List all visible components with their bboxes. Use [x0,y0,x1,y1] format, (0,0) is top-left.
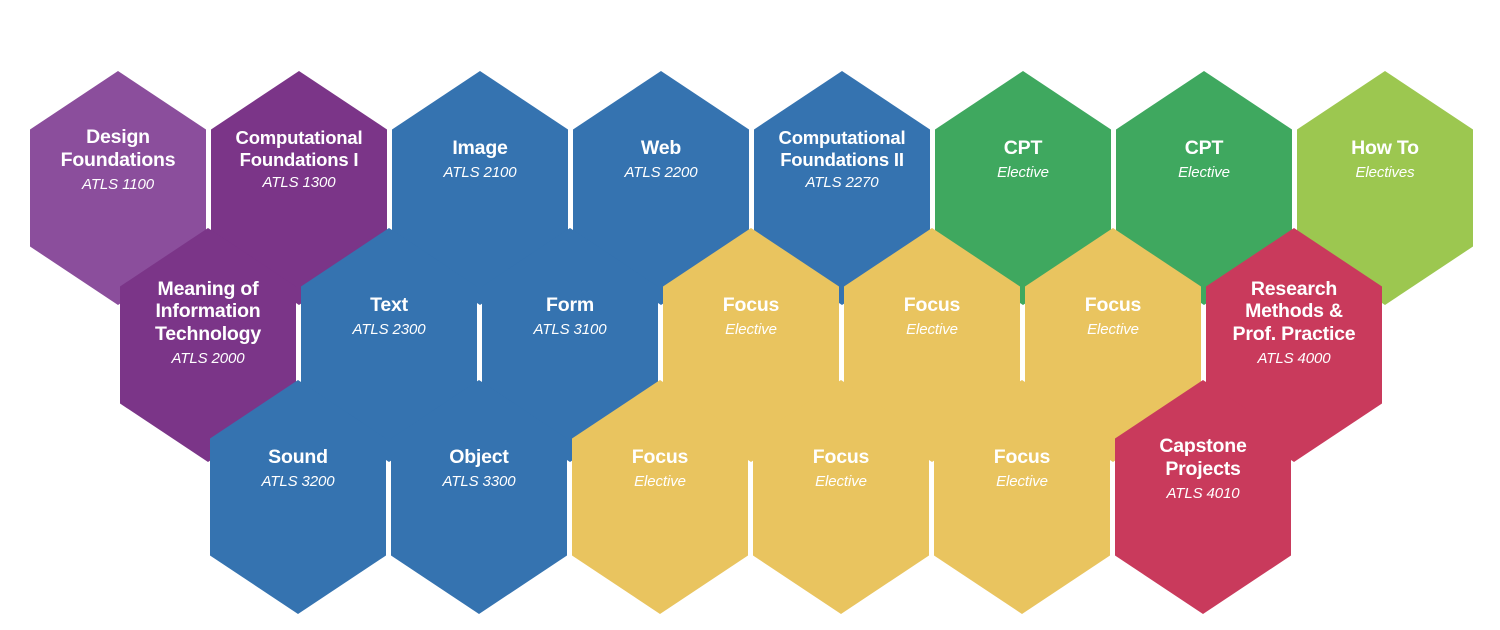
course-code: ATLS 3200 [224,472,372,492]
hexagon-content: Design FoundationsATLS 1100 [44,126,192,194]
course-code: Elective [1039,320,1187,340]
course-title: CPT [949,137,1097,160]
hexagon-content: How ToElectives [1311,137,1459,182]
hexagon-content: CPTElective [1130,137,1278,182]
course-code: ATLS 4010 [1129,484,1277,504]
course-title: Focus [586,446,734,469]
course-title: Research Methods & Prof. Practice [1220,278,1368,346]
course-title: Image [406,137,554,160]
course-code: ATLS 2270 [768,173,916,193]
course-title: Design Foundations [44,126,192,172]
hexagon-content: ImageATLS 2100 [406,137,554,182]
course-code: Elective [858,320,1006,340]
hexagon-content: Capstone ProjectsATLS 4010 [1129,435,1277,503]
hexagon-content: Computational Foundations IATLS 1300 [225,127,373,193]
course-title: Capstone Projects [1129,435,1277,481]
course-code: ATLS 2300 [315,320,463,340]
hexagon-course-map: Design FoundationsATLS 1100Computational… [0,0,1500,630]
course-title: Object [405,446,553,469]
course-title: CPT [1130,137,1278,160]
hexagon-content: Research Methods & Prof. PracticeATLS 40… [1220,278,1368,369]
hexagon-content: FocusElective [948,446,1096,491]
hexagon-content: FocusElective [677,294,825,339]
course-code: Elective [586,472,734,492]
course-code: Elective [948,472,1096,492]
course-title: Focus [677,294,825,317]
hexagon-content: CPTElective [949,137,1097,182]
hexagon-content: ObjectATLS 3300 [405,446,553,491]
course-code: ATLS 2200 [587,163,735,183]
hexagon-content: FocusElective [858,294,1006,339]
hexagon-content: FocusElective [767,446,915,491]
course-title: Computational Foundations I [225,127,373,170]
hexagon-content: WebATLS 2200 [587,137,735,182]
course-title: Web [587,137,735,160]
course-title: How To [1311,137,1459,160]
course-code: ATLS 4000 [1220,349,1368,369]
hexagon-content: SoundATLS 3200 [224,446,372,491]
course-code: Elective [1130,163,1278,183]
course-title: Meaning of Information Technology [134,278,282,346]
hexagon-content: FocusElective [1039,294,1187,339]
course-title: Focus [948,446,1096,469]
course-title: Focus [767,446,915,469]
course-code: Elective [767,472,915,492]
course-title: Text [315,294,463,317]
course-code: ATLS 2000 [134,349,282,369]
course-code: ATLS 1300 [225,173,373,193]
hexagon-content: TextATLS 2300 [315,294,463,339]
course-title: Focus [1039,294,1187,317]
course-code: ATLS 3300 [405,472,553,492]
course-title: Form [496,294,644,317]
course-title: Sound [224,446,372,469]
course-code: ATLS 1100 [44,175,192,195]
course-code: Elective [677,320,825,340]
course-code: Elective [949,163,1097,183]
hexagon-content: Computational Foundations IIATLS 2270 [768,127,916,193]
hexagon-content: FormATLS 3100 [496,294,644,339]
hexagon-content: Meaning of Information TechnologyATLS 20… [134,278,282,369]
hexagon-content: FocusElective [586,446,734,491]
course-code: Electives [1311,163,1459,183]
course-code: ATLS 2100 [406,163,554,183]
course-code: ATLS 3100 [496,320,644,340]
course-title: Computational Foundations II [768,127,916,170]
course-title: Focus [858,294,1006,317]
